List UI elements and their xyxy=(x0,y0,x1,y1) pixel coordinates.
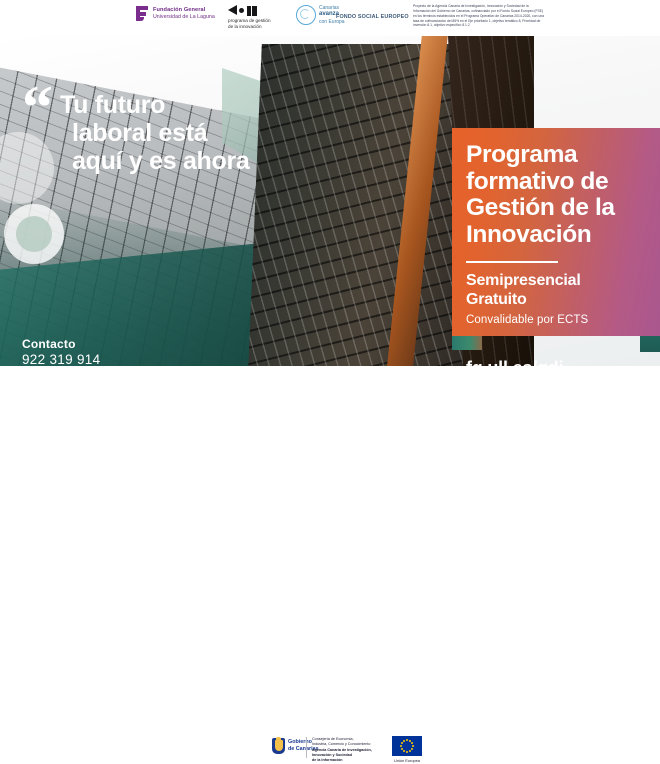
logo-union-europea: Unión Europea xyxy=(392,736,422,763)
eu-star-icon xyxy=(401,748,403,750)
eu-star-icon xyxy=(411,742,413,744)
hero-photo-building-facade: “ Tu futuro laboral está aquí y es ahora… xyxy=(0,36,660,366)
eu-star-icon xyxy=(409,750,411,752)
logo-consejeria-economia: Consejería de Economía, Industria, Comer… xyxy=(312,737,384,764)
decorative-circle-inner xyxy=(4,204,64,264)
eu-caption: Unión Europea xyxy=(392,758,422,763)
eu-star-icon xyxy=(403,750,405,752)
ull-f-mark-icon xyxy=(136,6,149,21)
eu-star-icon xyxy=(406,739,408,741)
quote-line-1: Tu futuro xyxy=(60,91,360,119)
eu-star-icon xyxy=(406,751,408,753)
eu-star-icon xyxy=(403,740,405,742)
pgi-logo-line2: de la innovación xyxy=(228,24,271,30)
quote-mark-icon: “ xyxy=(22,89,51,127)
canarias-shield-icon xyxy=(272,738,285,754)
eu-star-icon xyxy=(412,745,414,747)
fondo-social-europeo-label: FONDO SOCIAL EUROPEO xyxy=(336,14,409,20)
program-price: Gratuito xyxy=(466,290,658,309)
quote-line-3: aquí y es ahora xyxy=(72,147,360,175)
consejeria-line5: de la Información xyxy=(312,758,384,763)
header-logo-bar: Fundación General Universidad de La Lagu… xyxy=(0,0,660,36)
logo-fundacion-general-ull: Fundación General Universidad de La Lagu… xyxy=(136,6,215,21)
ull-logo-line2: Universidad de La Laguna xyxy=(153,14,215,21)
program-credits: Convalidable por ECTS xyxy=(466,312,658,328)
program-title: Programa formativo de Gestión de la Inno… xyxy=(466,142,658,248)
contact-block: Contacto 922 319 914 gdi@fg.ull.es xyxy=(22,337,103,366)
panel-teal-sliver xyxy=(452,336,482,350)
eu-flag-icon xyxy=(392,736,422,756)
program-mode: Semipresencial xyxy=(466,271,658,290)
eu-star-icon xyxy=(401,742,403,744)
swirl-icon xyxy=(296,5,316,25)
contact-title: Contacto xyxy=(22,337,103,352)
footer-divider xyxy=(306,737,307,758)
footer-logo-bar: Gobierno de Canarias Consejería de Econo… xyxy=(0,366,660,400)
panel-divider xyxy=(466,261,558,263)
quote-line-2: laboral está xyxy=(72,119,360,147)
logo-programa-gestion-innovacion: programa de gestión de la innovación xyxy=(228,5,271,30)
eu-star-icon xyxy=(400,745,402,747)
play-dot-bars-icon xyxy=(228,5,258,16)
eu-star-icon xyxy=(411,748,413,750)
program-url[interactable]: fg.ull.es/gdi xyxy=(466,358,563,366)
program-info-panel: Programa formativo de Gestión de la Inno… xyxy=(452,128,660,336)
legal-disclaimer-text: Proyecto de la Agencia Canaria de Invest… xyxy=(413,4,545,28)
ull-logo-line1: Fundación General xyxy=(153,7,215,14)
contact-phone[interactable]: 922 319 914 xyxy=(22,352,103,366)
